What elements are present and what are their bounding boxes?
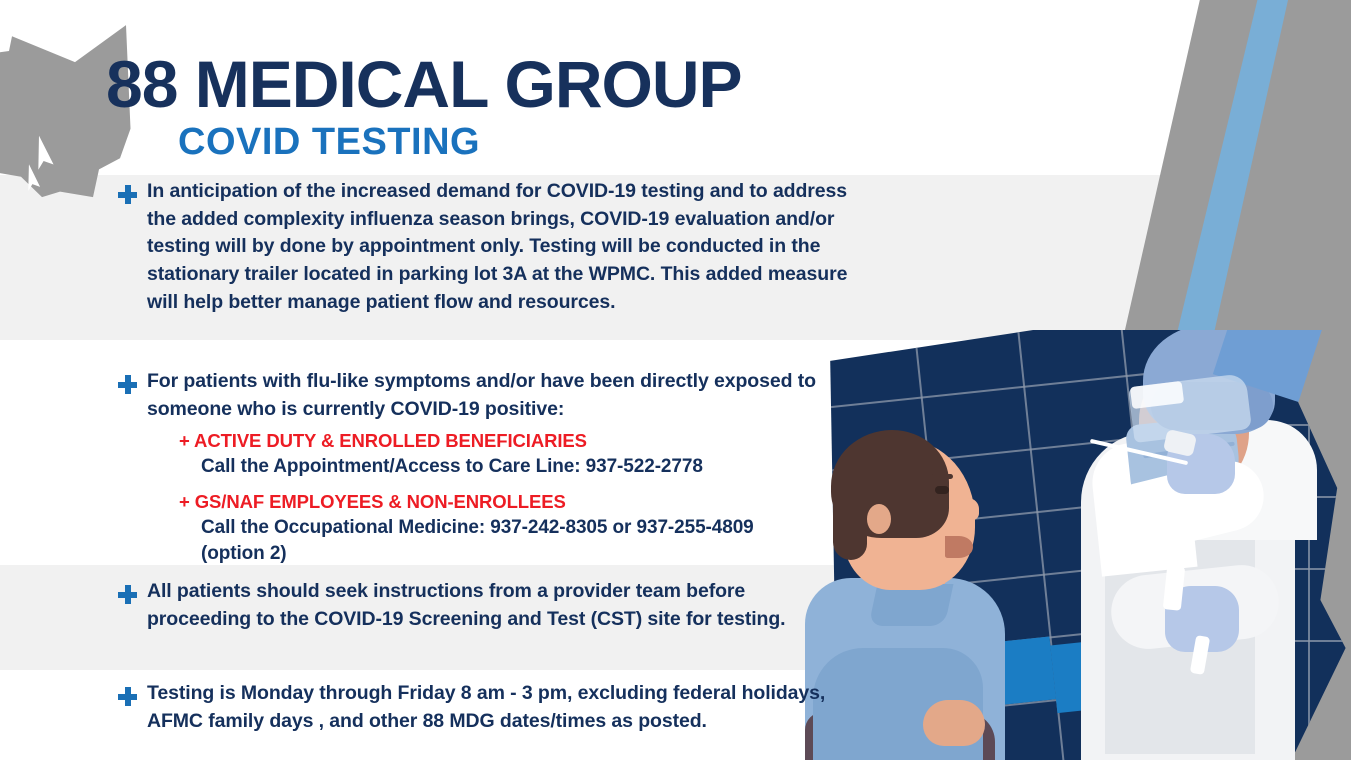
bullet-item: For patients with flu-like symptoms and/…	[118, 368, 848, 567]
page-subtitle: COVID TESTING	[178, 123, 742, 161]
contact-group-heading: + ACTIVE DUTY & ENROLLED BENEFICIARIES	[179, 428, 848, 454]
contact-phone-line: Call the Appointment/Access to Care Line…	[201, 454, 848, 480]
bullet-text: In anticipation of the increased demand …	[147, 178, 848, 316]
bullet-item: Testing is Monday through Friday 8 am - …	[118, 680, 848, 735]
contact-group-heading: + GS/NAF EMPLOYEES & NON-ENROLLEES	[179, 489, 848, 515]
contact-group-gs-naf: + GS/NAF EMPLOYEES & NON-ENROLLEES Call …	[147, 489, 848, 567]
bullet-item: All patients should seek instructions fr…	[118, 578, 848, 633]
bullet-text: All patients should seek instructions fr…	[147, 578, 848, 633]
plus-bullet-icon	[118, 185, 137, 204]
poster-canvas: 88 MEDICAL GROUP COVID TESTING In antici…	[0, 0, 1351, 760]
contact-phone-option: (option 2)	[201, 541, 848, 567]
plus-bullet-icon	[118, 585, 137, 604]
bullet-text: Testing is Monday through Friday 8 am - …	[147, 680, 848, 735]
contact-group-active-duty: + ACTIVE DUTY & ENROLLED BENEFICIARIES C…	[147, 428, 848, 480]
plus-bullet-icon	[118, 687, 137, 706]
text-content-column: 88 MEDICAL GROUP COVID TESTING In antici…	[0, 0, 870, 760]
page-title: 88 MEDICAL GROUP	[106, 52, 742, 117]
contact-phone-line: Call the Occupational Medicine: 937-242-…	[201, 515, 848, 541]
healthcare-worker-figure	[1047, 330, 1347, 760]
plus-bullet-icon	[118, 375, 137, 394]
bullet-item: In anticipation of the increased demand …	[118, 178, 848, 316]
poster-heading: 88 MEDICAL GROUP COVID TESTING	[106, 52, 742, 161]
bullet-text: For patients with flu-like symptoms and/…	[147, 368, 848, 423]
illustration-covid-swab-test	[795, 330, 1351, 760]
